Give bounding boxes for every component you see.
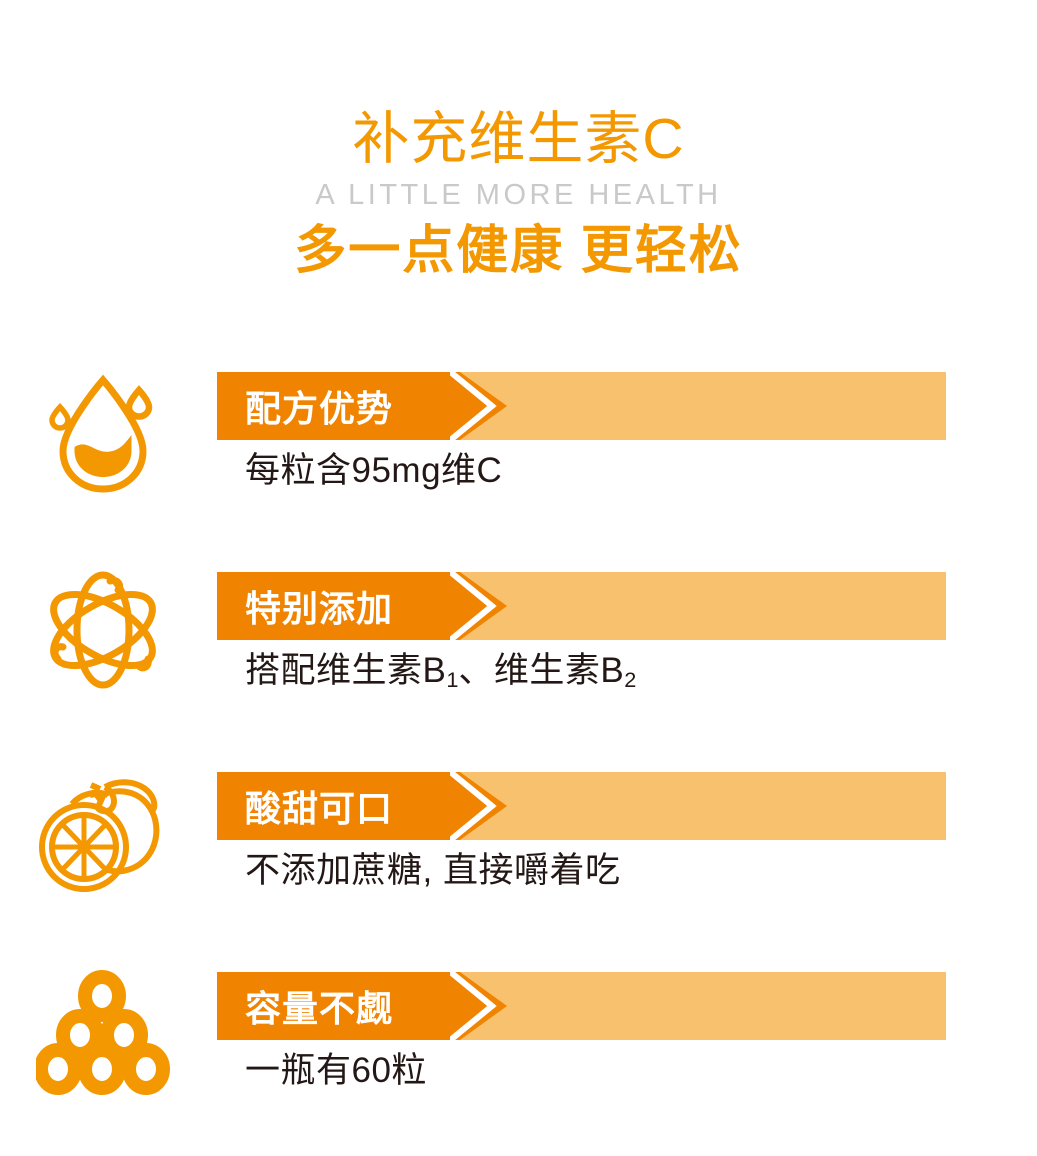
feature-tag: 配方优势 [217,372,507,440]
feature-desc-subscript-1: 1 [446,667,458,692]
feature-tag: 酸甜可口 [217,772,507,840]
pill-stack-icon [36,963,170,1097]
feature-tag-label: 配方优势 [217,380,393,432]
feature-desc-prefix: 每粒含95mg维C [245,451,502,490]
feature-desc-middle: 、维生素B [458,651,624,690]
feature-desc-prefix: 一瓶有60粒 [245,1051,427,1090]
page-slogan: 多一点健康 更轻松 [0,220,1037,282]
feature-description: 一瓶有60粒 [245,1048,427,1098]
feature-description: 不添加蔗糖, 直接嚼着吃 [245,848,620,898]
feature-tag-label: 酸甜可口 [217,780,393,832]
feature-row: 特别添加 搭配维生素B1、维生素B2 [0,555,1037,755]
feature-description: 搭配维生素B1、维生素B2 [245,648,636,698]
feature-tag: 容量不觑 [217,972,507,1040]
feature-tag: 特别添加 [217,572,507,640]
orange-fruit-icon [36,763,170,897]
feature-tag-label: 特别添加 [217,580,393,632]
feature-row: 酸甜可口 不添加蔗糖, 直接嚼着吃 [0,755,1037,955]
atom-icon [36,563,170,697]
feature-row: 容量不觑 一瓶有60粒 [0,955,1037,1155]
feature-row: 配方优势 每粒含95mg维C [0,355,1037,555]
feature-tag-label: 容量不觑 [217,980,393,1032]
feature-desc-prefix: 不添加蔗糖, 直接嚼着吃 [245,851,620,890]
feature-desc-prefix: 搭配维生素B [245,651,446,690]
page-title: 补充维生素C [0,104,1037,174]
product-feature-infographic: { "header": { "title_cn": "补充维生素C", "tit… [0,0,1037,1156]
feature-description: 每粒含95mg维C [245,448,502,498]
feature-desc-subscript-2: 2 [624,667,636,692]
page-subtitle-english: A LITTLE MORE HEALTH [0,176,1037,214]
page-header: 补充维生素C A LITTLE MORE HEALTH 多一点健康 更轻松 [0,104,1037,282]
water-droplet-icon [36,363,170,497]
feature-list: 配方优势 每粒含95mg维C [0,355,1037,1155]
